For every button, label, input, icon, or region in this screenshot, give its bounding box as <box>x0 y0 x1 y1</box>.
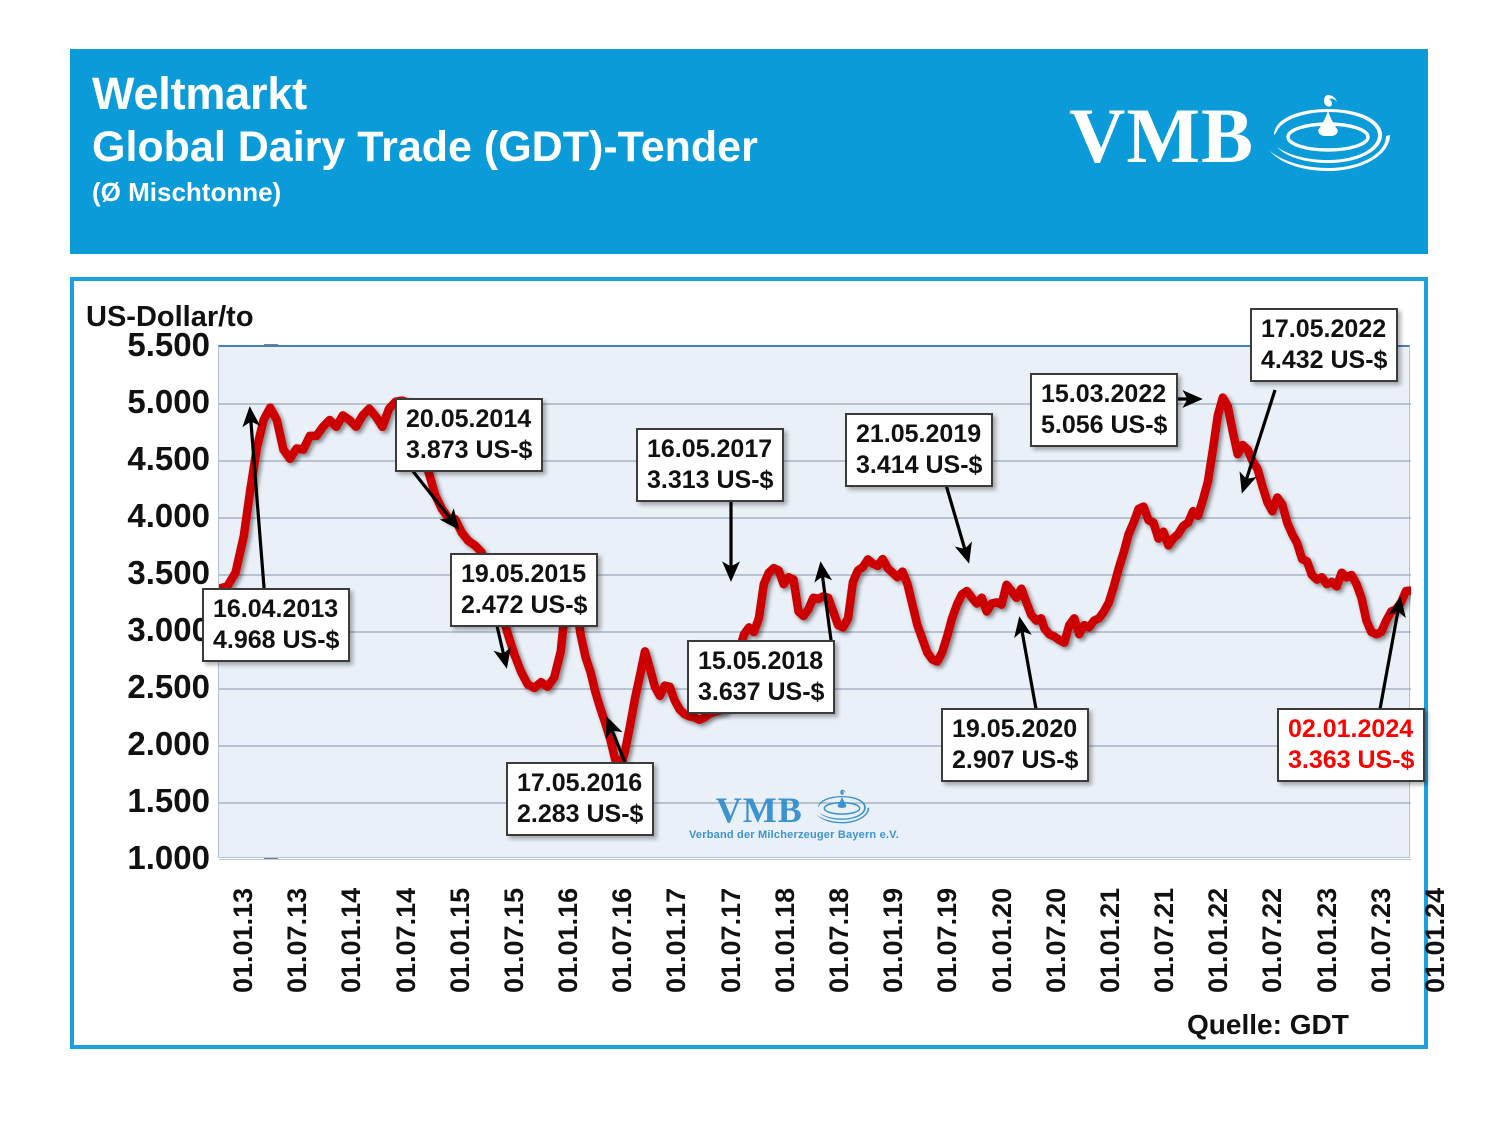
callout-2020: 19.05.2020 2.907 US-$ <box>941 708 1089 782</box>
callout-2015-value: 2.472 US-$ <box>461 590 587 621</box>
x-tick-label: 01.07.21 <box>1149 888 1180 993</box>
y-tick-label: 1.500 <box>70 782 210 820</box>
y-tick-label: 4.500 <box>70 440 210 478</box>
x-tick-label: 01.01.24 <box>1420 888 1451 993</box>
callout-2022-may: 17.05.2022 4.432 US-$ <box>1250 308 1398 382</box>
x-tick-label: 01.07.15 <box>499 888 530 993</box>
callout-2022-mar: 15.03.2022 5.056 US-$ <box>1030 373 1178 447</box>
callout-2024-value: 3.363 US-$ <box>1288 745 1414 776</box>
callout-2024: 02.01.2024 3.363 US-$ <box>1277 708 1425 782</box>
x-tick-label: 01.01.22 <box>1203 888 1234 993</box>
x-tick-label: 01.01.21 <box>1095 888 1126 993</box>
callout-2013-date: 16.04.2013 <box>213 594 339 625</box>
callout-2017-date: 16.05.2017 <box>647 434 773 465</box>
milk-drop-ripple-icon <box>1262 91 1394 182</box>
callout-2014: 20.05.2014 3.873 US-$ <box>395 398 543 472</box>
y-tick-label: 4.000 <box>70 497 210 535</box>
x-tick-label: 01.07.13 <box>282 888 313 993</box>
callout-2018-value: 3.637 US-$ <box>698 677 824 708</box>
callout-2022-may-value: 4.432 US-$ <box>1261 345 1387 376</box>
x-tick-label: 01.07.22 <box>1257 888 1288 993</box>
x-tick-label: 01.01.19 <box>878 888 909 993</box>
callout-2019-value: 3.414 US-$ <box>856 450 982 481</box>
callout-2016: 17.05.2016 2.283 US-$ <box>506 762 654 836</box>
callout-2022-may-date: 17.05.2022 <box>1261 314 1387 345</box>
callout-2024-date: 02.01.2024 <box>1288 714 1414 745</box>
callout-2020-date: 19.05.2020 <box>952 714 1078 745</box>
y-tick-label: 3.000 <box>70 611 210 649</box>
callout-2019: 21.05.2019 3.414 US-$ <box>845 413 993 487</box>
y-tick-label: 5.000 <box>70 383 210 421</box>
gridlines <box>219 404 1411 860</box>
x-tick-label: 01.07.17 <box>716 888 747 993</box>
x-tick-label: 01.01.17 <box>661 888 692 993</box>
callout-2013-value: 4.968 US-$ <box>213 625 339 656</box>
x-tick-label: 01.01.18 <box>770 888 801 993</box>
y-tick-label: 2.000 <box>70 725 210 763</box>
callout-2019-date: 21.05.2019 <box>856 419 982 450</box>
callout-2015-date: 19.05.2015 <box>461 559 587 590</box>
x-tick-label: 01.01.15 <box>445 888 476 993</box>
x-tick-label: 01.01.14 <box>336 888 367 993</box>
callout-2022-mar-date: 15.03.2022 <box>1041 379 1167 410</box>
callout-2018-date: 15.05.2018 <box>698 646 824 677</box>
callout-2016-date: 17.05.2016 <box>517 768 643 799</box>
callout-2013: 16.04.2013 4.968 US-$ <box>202 588 350 662</box>
callout-2017: 16.05.2017 3.313 US-$ <box>636 428 784 502</box>
vmb-logo: VMB <box>1069 49 1428 182</box>
callout-2016-value: 2.283 US-$ <box>517 799 643 830</box>
header-text-block: Weltmarkt Global Dairy Trade (GDT)-Tende… <box>70 49 758 208</box>
chart-page: Weltmarkt Global Dairy Trade (GDT)-Tende… <box>0 0 1500 1125</box>
callout-2014-date: 20.05.2014 <box>406 404 532 435</box>
x-tick-label: 01.07.14 <box>391 888 422 993</box>
x-tick-label: 01.01.16 <box>553 888 584 993</box>
page-note: (Ø Mischtonne) <box>92 177 758 208</box>
callout-2022-mar-value: 5.056 US-$ <box>1041 410 1167 441</box>
vmb-logo-text: VMB <box>1069 97 1254 175</box>
callout-2014-value: 3.873 US-$ <box>406 435 532 466</box>
x-tick-label: 01.07.20 <box>1041 888 1072 993</box>
page-subtitle: Global Dairy Trade (GDT)-Tender <box>92 122 758 173</box>
x-tick-label: 01.01.13 <box>228 888 259 993</box>
x-tick-label: 01.07.19 <box>932 888 963 993</box>
x-tick-label: 01.07.18 <box>824 888 855 993</box>
x-tick-label: 01.01.23 <box>1312 888 1343 993</box>
y-tick-label: 2.500 <box>70 668 210 706</box>
header-banner: Weltmarkt Global Dairy Trade (GDT)-Tende… <box>70 49 1428 254</box>
callout-2020-value: 2.907 US-$ <box>952 745 1078 776</box>
x-tick-label: 01.07.16 <box>607 888 638 993</box>
callout-2015: 19.05.2015 2.472 US-$ <box>450 553 598 627</box>
y-tick-label: 1.000 <box>70 839 210 877</box>
y-tick-label: 5.500 <box>70 326 210 364</box>
callout-2018: 15.05.2018 3.637 US-$ <box>687 640 835 714</box>
x-tick-label: 01.07.23 <box>1366 888 1397 993</box>
x-tick-label: 01.01.20 <box>987 888 1018 993</box>
callout-2017-value: 3.313 US-$ <box>647 465 773 496</box>
source-label: Quelle: GDT <box>1187 1009 1349 1041</box>
page-title: Weltmarkt <box>92 67 758 120</box>
y-tick-label: 3.500 <box>70 554 210 592</box>
y-axis-ticks: 5.5005.0004.5004.0003.5003.0002.5002.000… <box>60 345 210 858</box>
